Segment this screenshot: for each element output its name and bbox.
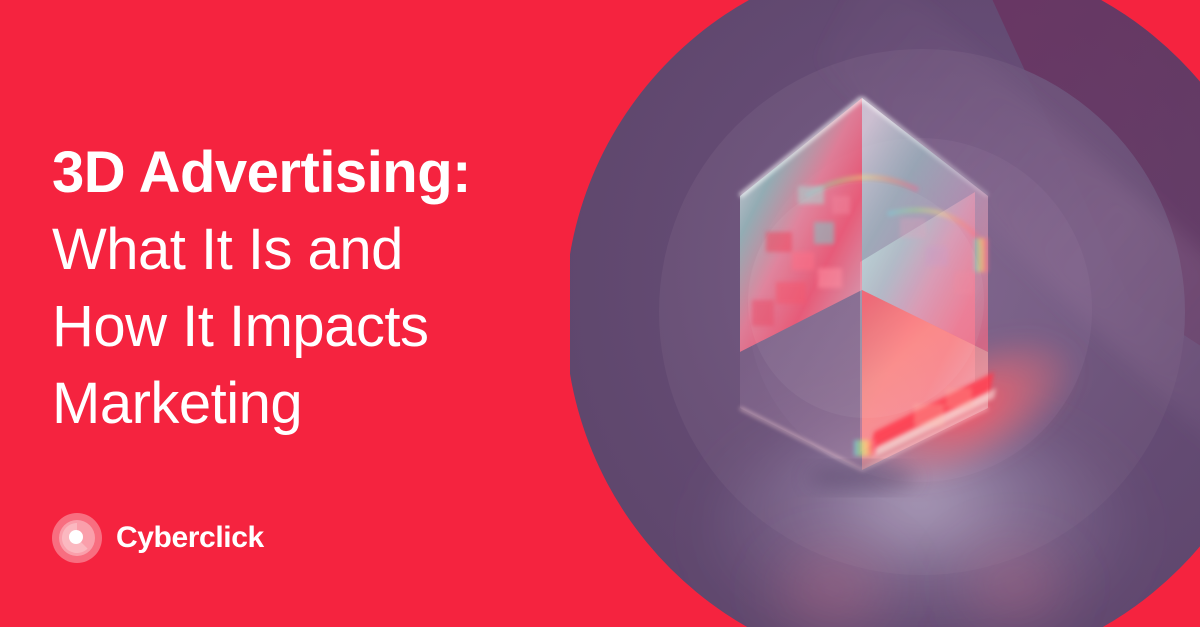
cyberclick-circle-mark-icon [52,513,102,563]
headline-line-4: Marketing [52,365,612,442]
headline-line-2: What It Is and [52,211,612,288]
logo-center-dot [69,530,83,544]
glass-cube-3d-icon [570,0,1200,627]
brand-wordmark: Cyberclick [116,523,264,553]
page-title: 3D Advertising: What It Is and How It Im… [52,134,612,442]
hero-artwork [570,0,1200,627]
brand-logo[interactable]: Cyberclick [52,511,264,565]
headline-line-1: 3D Advertising: [52,134,612,211]
headline-line-3: How It Impacts [52,288,612,365]
cube-prism-bottom [854,440,876,456]
cube-contact-shadow [808,466,916,490]
social-share-banner: 3D Advertising: What It Is and How It Im… [0,0,1200,627]
